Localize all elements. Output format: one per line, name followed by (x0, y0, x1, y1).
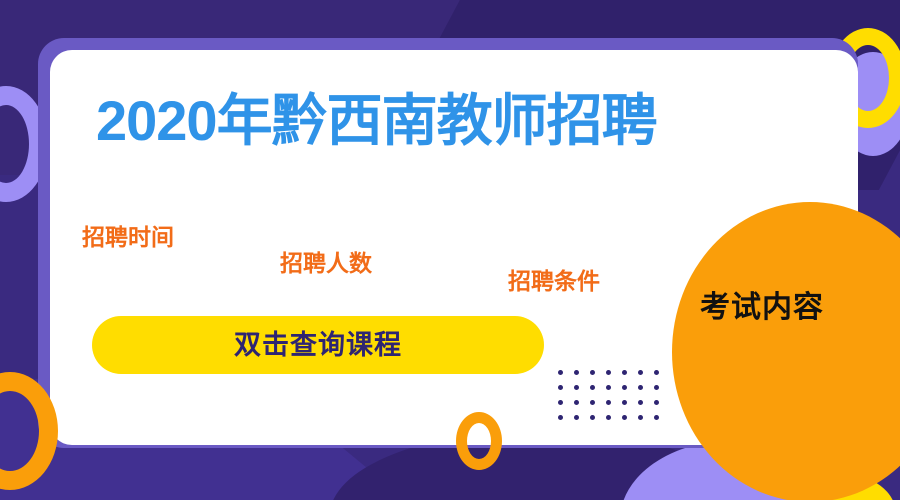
label-recruitment-requirements: 招聘条件 (508, 270, 600, 293)
grid-dot (606, 385, 611, 390)
grid-dot (574, 415, 579, 420)
ring-orange-small-icon (456, 412, 502, 470)
grid-dot (590, 370, 595, 375)
label-recruitment-time: 招聘时间 (82, 226, 174, 249)
grid-dot (558, 415, 563, 420)
grid-dot (622, 385, 627, 390)
banner-title: 2020年黔西南教师招聘 (96, 93, 657, 149)
grid-dot (558, 385, 563, 390)
grid-dot (654, 415, 659, 420)
grid-dot (622, 415, 627, 420)
grid-dot (638, 400, 643, 405)
query-course-button[interactable]: 双击查询课程 (92, 316, 544, 374)
grid-dot (638, 385, 643, 390)
grid-dot (654, 385, 659, 390)
grid-dot (654, 400, 659, 405)
grid-dot (606, 400, 611, 405)
exam-content-label: 考试内容 (700, 293, 824, 323)
grid-dot (590, 385, 595, 390)
grid-dot (606, 370, 611, 375)
grid-dot (590, 400, 595, 405)
grid-dot (638, 415, 643, 420)
promo-banner: 2020年黔西南教师招聘 招聘时间 招聘人数 招聘条件 双击查询课程 考试内容 (0, 0, 900, 500)
grid-dot (590, 415, 595, 420)
grid-dot (574, 370, 579, 375)
label-recruitment-headcount: 招聘人数 (280, 252, 372, 275)
grid-dot (558, 400, 563, 405)
grid-dot (574, 385, 579, 390)
grid-dot (558, 370, 563, 375)
grid-dot (654, 370, 659, 375)
grid-dot (638, 370, 643, 375)
query-course-button-label: 双击查询课程 (234, 332, 402, 359)
dot-grid-pattern (558, 370, 670, 430)
grid-dot (606, 415, 611, 420)
grid-dot (622, 400, 627, 405)
grid-dot (574, 400, 579, 405)
grid-dot (622, 370, 627, 375)
